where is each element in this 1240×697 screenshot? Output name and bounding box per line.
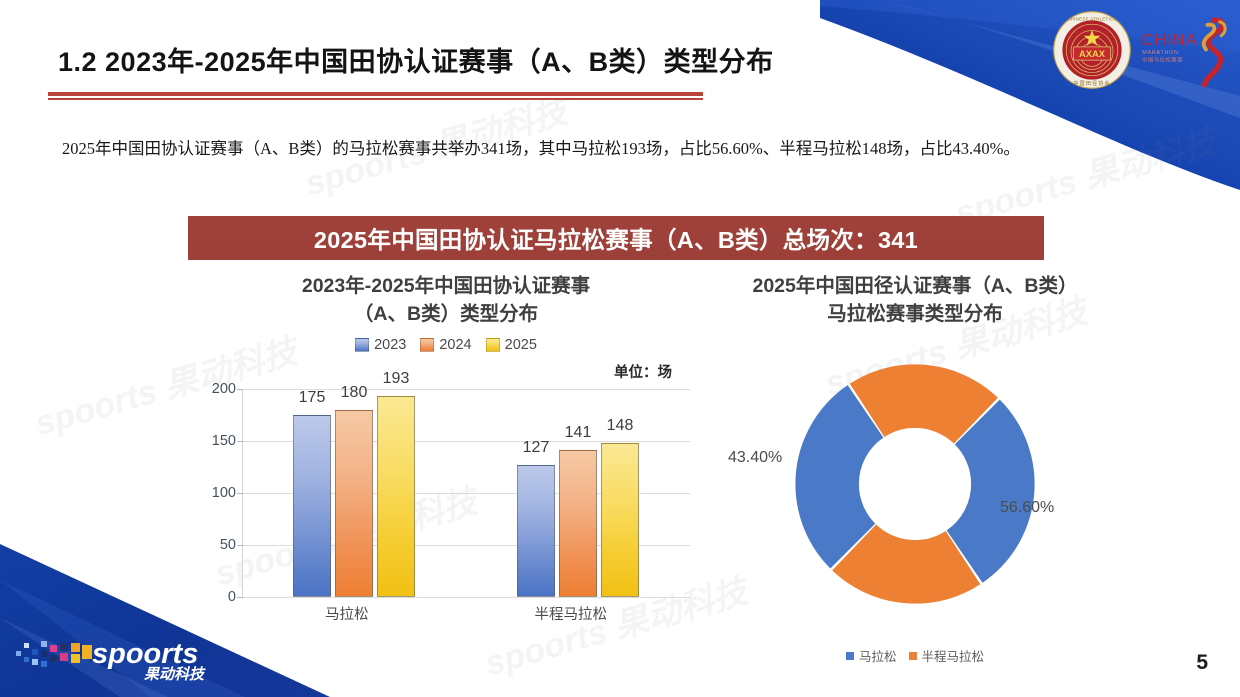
summary-banner: 2025年中国田协认证马拉松赛事（A、B类）总场次：341 — [188, 216, 1044, 260]
bar-2023-half-marathon[interactable]: 127 — [517, 465, 555, 597]
bar-chart-panel: 2023年-2025年中国田协认证赛事 （A、B类）类型分布 2023 2024… — [196, 272, 696, 662]
legend-item-2024: 2024 — [420, 337, 471, 353]
bar-chart-title-line2: （A、B类）类型分布 — [196, 300, 696, 328]
legend-item-marathon: 马拉松 — [846, 646, 897, 665]
bar-value-label: 180 — [341, 384, 368, 402]
bar-group-marathon: 175 180 193 — [293, 389, 415, 597]
legend-label-2024: 2024 — [439, 337, 471, 353]
title-underline-rule — [48, 92, 703, 100]
legend-swatch-2024 — [420, 338, 434, 352]
y-tick-label: 200 — [196, 381, 236, 397]
donut-chart-title-line2: 马拉松赛事类型分布 — [700, 300, 1130, 328]
bar-2023-marathon[interactable]: 175 — [293, 415, 331, 597]
bar-value-label: 141 — [565, 424, 592, 442]
bar-2024-half-marathon[interactable]: 141 — [559, 450, 597, 597]
legend-label-2023: 2023 — [374, 337, 406, 353]
china-marathon-logo-icon: CHINA MARATHON 中国马拉松赛事 — [1140, 14, 1232, 88]
legend-label-marathon: 马拉松 — [859, 646, 897, 665]
donut-slice-half-marathon[interactable] — [827, 396, 1003, 572]
page-number: 5 — [1196, 651, 1208, 675]
bar-chart-title-line1: 2023年-2025年中国田协认证赛事 — [196, 272, 696, 300]
bar-chart-legend: 2023 2024 2025 — [196, 337, 696, 353]
legend-swatch-half-marathon — [909, 652, 917, 660]
y-tick-label: 0 — [196, 589, 236, 605]
svg-text:CHINA: CHINA — [1142, 31, 1198, 49]
unit-note: 单位：场 — [614, 361, 672, 382]
bar-chart-title: 2023年-2025年中国田协认证赛事 （A、B类）类型分布 — [196, 272, 696, 328]
donut-chart-title: 2025年中国田径认证赛事（A、B类） 马拉松赛事类型分布 — [700, 272, 1130, 328]
bar-value-label: 175 — [299, 389, 326, 407]
legend-label-2025: 2025 — [505, 337, 537, 353]
spoorts-chinese-name: 果动科技 — [144, 666, 206, 683]
legend-swatch-2025 — [486, 338, 500, 352]
svg-text:MARATHON: MARATHON — [1142, 50, 1178, 56]
y-tick-label: 150 — [196, 433, 236, 449]
bar-2025-marathon[interactable]: 193 — [377, 396, 415, 597]
legend-swatch-2023 — [355, 338, 369, 352]
spoorts-mosaic-icon — [16, 641, 92, 667]
svg-text:中国马拉松赛事: 中国马拉松赛事 — [1142, 56, 1183, 64]
page-title: 1.2 2023年-2025年中国田协认证赛事（A、B类）类型分布 — [58, 40, 774, 79]
summary-banner-label: 2025年中国田协认证马拉松赛事（A、B类）总场次：341 — [314, 221, 918, 255]
body-paragraph: 2025年中国田协认证赛事（A、B类）的马拉松赛事共举办341场，其中马拉松19… — [62, 126, 1072, 172]
chinese-athletics-association-logo-icon: AXAX CHINESE ATHLETICS 中国田径协会 — [1053, 11, 1131, 89]
legend-item-2023: 2023 — [355, 337, 406, 353]
legend-item-2025: 2025 — [486, 337, 537, 353]
bar-2024-marathon[interactable]: 180 — [335, 410, 373, 597]
donut-value-label-half-marathon: 43.40% — [728, 449, 782, 467]
donut-chart — [777, 346, 1053, 622]
bar-value-label: 148 — [607, 417, 634, 435]
bar-series-container: 175 180 193 127 — [242, 389, 690, 597]
donut-chart-panel: 2025年中国田径认证赛事（A、B类） 马拉松赛事类型分布 56.60% 43.… — [700, 272, 1130, 672]
svg-text:AXAX: AXAX — [1079, 49, 1106, 59]
y-axis: 200 150 100 50 0 — [196, 389, 236, 597]
x-tick-label-half-marathon: 半程马拉松 — [535, 603, 608, 624]
donut-value-label-marathon: 56.60% — [1000, 499, 1054, 517]
y-tick-label: 100 — [196, 485, 236, 501]
legend-label-half-marathon: 半程马拉松 — [922, 646, 985, 665]
legend-swatch-marathon — [846, 652, 854, 660]
x-tick-label-marathon: 马拉松 — [325, 603, 369, 624]
donut-chart-title-line1: 2025年中国田径认证赛事（A、B类） — [700, 272, 1130, 300]
slide: spoorts 果动科技 spoorts 果动科技 spoorts 果动科技 s… — [0, 0, 1240, 697]
donut-plot-area: 56.60% 43.40% — [700, 342, 1130, 642]
bar-value-label: 193 — [383, 370, 410, 388]
donut-chart-legend: 马拉松 半程马拉松 — [700, 646, 1130, 665]
x-axis-labels: 马拉松 半程马拉松 — [242, 603, 690, 624]
bar-group-half-marathon: 127 141 148 — [517, 389, 639, 597]
bar-chart-plot-area: 单位：场 200 150 100 50 0 175 — [196, 365, 696, 637]
y-tick-label: 50 — [196, 537, 236, 553]
bar-2025-half-marathon[interactable]: 148 — [601, 443, 639, 597]
legend-item-half-marathon: 半程马拉松 — [909, 646, 985, 665]
spoorts-logo: spoorts 果动科技 — [14, 631, 232, 683]
bar-value-label: 127 — [523, 439, 550, 457]
svg-text:CHINESE ATHLETICS: CHINESE ATHLETICS — [1067, 16, 1116, 21]
